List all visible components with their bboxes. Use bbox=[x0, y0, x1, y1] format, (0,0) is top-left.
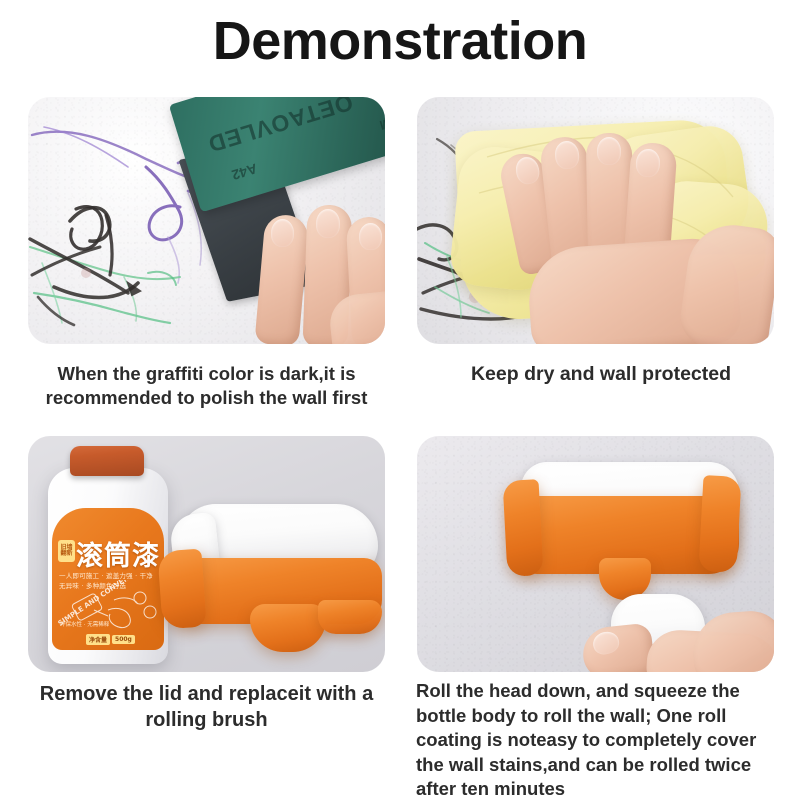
step-image-wipe bbox=[417, 97, 774, 344]
label-product-name: 滚筒漆 bbox=[76, 534, 160, 573]
bottle-cap bbox=[70, 446, 144, 476]
roller-frame-arm-left bbox=[503, 479, 544, 577]
roller-brush-head bbox=[158, 504, 385, 664]
paint-bottle: 旧墙翻新 滚筒漆 一人即可施工 · 遮盖力强 · 干净无异味 · 多种颜色可选 … bbox=[48, 446, 168, 664]
caption-step-polish: When the graffiti color is dark,it is re… bbox=[14, 362, 399, 410]
label-weight-title: 净含量 bbox=[86, 634, 110, 645]
roller-frame-arm-right bbox=[699, 475, 742, 573]
label-note: 环保水性 · 无需稀释 bbox=[60, 620, 109, 628]
demonstration-page: Demonstration bbox=[0, 0, 800, 800]
page-title: Demonstration bbox=[0, 14, 800, 68]
caption-step-replace-lid: Remove the lid and replaceit with a roll… bbox=[14, 681, 399, 733]
caption-step-wipe: Keep dry and wall protected bbox=[412, 362, 790, 387]
label-weight-row: 净含量 500g bbox=[86, 634, 135, 645]
label-weight-value: 500g bbox=[112, 635, 135, 644]
roller-neck bbox=[250, 604, 326, 652]
label-badge: 旧墙翻新 bbox=[58, 540, 75, 562]
step-image-polish: QETAOVLED SHS 3 A42 O M bbox=[28, 97, 385, 344]
step-image-roll bbox=[417, 436, 774, 672]
block-print-line-c: O M bbox=[378, 111, 385, 133]
block-print-main: QETAOVLED bbox=[204, 97, 356, 158]
caption-step-roll: Roll the head down, and squeeze the bott… bbox=[416, 679, 788, 800]
block-print-line-b: A42 bbox=[230, 161, 259, 184]
roller-frame-arm-left bbox=[157, 549, 206, 630]
roller-frame-arm-right bbox=[318, 600, 382, 634]
bottle-label: 旧墙翻新 滚筒漆 一人即可施工 · 遮盖力强 · 干净无异味 · 多种颜色可选 … bbox=[52, 508, 164, 650]
step-image-replace-lid: 旧墙翻新 滚筒漆 一人即可施工 · 遮盖力强 · 干净无异味 · 多种颜色可选 … bbox=[28, 436, 385, 672]
